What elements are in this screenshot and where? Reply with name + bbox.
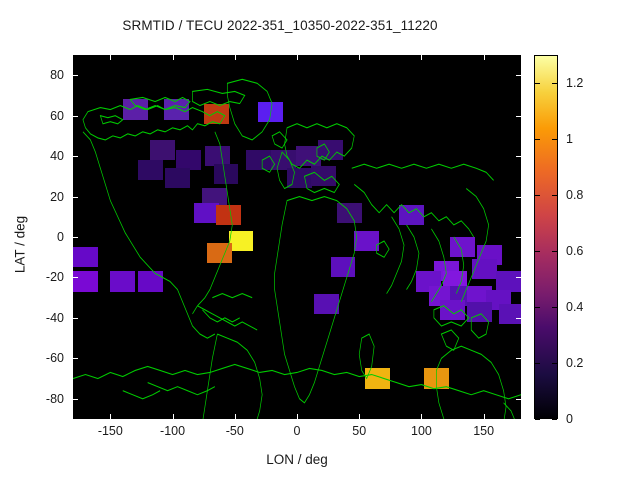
y-tick-mark [516, 399, 521, 400]
y-tick-label: -60 [18, 351, 64, 365]
x-tick-mark [297, 414, 298, 419]
colorbar-tick-label: 1.2 [566, 76, 583, 90]
y-tick-mark [516, 156, 521, 157]
x-tick-mark [235, 414, 236, 419]
colorbar-tick-mark [535, 307, 540, 308]
x-tick-label: 50 [352, 424, 366, 438]
colorbar-tick-mark [535, 195, 540, 196]
colorbar-tick-label: 0 [566, 412, 573, 426]
x-tick-mark [235, 55, 236, 60]
y-tick-mark [73, 399, 78, 400]
y-tick-mark [73, 318, 78, 319]
x-tick-label: 150 [473, 424, 494, 438]
y-tick-mark [516, 358, 521, 359]
y-tick-mark [73, 156, 78, 157]
y-tick-mark [73, 197, 78, 198]
x-tick-mark [173, 55, 174, 60]
colorbar-tick-label: 1 [566, 132, 573, 146]
map-plot-area[interactable] [73, 55, 521, 419]
colorbar-tick-mark [552, 195, 557, 196]
colorbar-tick-mark [552, 307, 557, 308]
x-tick-mark [359, 55, 360, 60]
y-tick-mark [73, 237, 78, 238]
x-tick-mark [421, 414, 422, 419]
y-tick-mark [516, 75, 521, 76]
coastline-overlay [73, 55, 521, 419]
colorbar-tick-mark [552, 363, 557, 364]
y-tick-mark [73, 358, 78, 359]
y-axis-label: LAT / deg [13, 145, 28, 345]
colorbar[interactable] [534, 55, 558, 419]
x-tick-mark [359, 414, 360, 419]
colorbar-tick-mark [535, 83, 540, 84]
y-tick-label: 80 [18, 68, 64, 82]
colorbar-tick-mark [535, 363, 540, 364]
colorbar-tick-label: 0.6 [566, 244, 583, 258]
x-tick-mark [484, 414, 485, 419]
x-tick-mark [110, 55, 111, 60]
x-tick-label: -150 [98, 424, 123, 438]
y-tick-mark [73, 277, 78, 278]
colorbar-tick-label: 0.4 [566, 300, 583, 314]
y-tick-mark [516, 116, 521, 117]
colorbar-tick-mark [535, 251, 540, 252]
x-tick-mark [297, 55, 298, 60]
x-axis-label: LON / deg [73, 452, 521, 467]
y-tick-mark [516, 277, 521, 278]
colorbar-tick-mark [552, 83, 557, 84]
y-tick-mark [516, 318, 521, 319]
colorbar-tick-mark [552, 139, 557, 140]
colorbar-gradient [534, 55, 558, 419]
colorbar-tick-mark [535, 139, 540, 140]
y-tick-label: 60 [18, 109, 64, 123]
colorbar-tick-mark [552, 419, 557, 420]
page-title: SRMTID / TECU 2022-351_10350-2022-351_11… [0, 18, 560, 33]
x-tick-mark [173, 414, 174, 419]
x-tick-label: 100 [411, 424, 432, 438]
y-tick-mark [516, 237, 521, 238]
y-tick-mark [73, 75, 78, 76]
colorbar-tick-label: 0.2 [566, 356, 583, 370]
x-tick-mark [110, 414, 111, 419]
y-tick-label: -80 [18, 392, 64, 406]
y-tick-mark [516, 197, 521, 198]
x-tick-label: -100 [160, 424, 185, 438]
x-tick-mark [484, 55, 485, 60]
colorbar-tick-mark [552, 251, 557, 252]
y-tick-mark [73, 116, 78, 117]
x-tick-label: -50 [226, 424, 244, 438]
colorbar-tick-mark [535, 419, 540, 420]
x-tick-label: 0 [294, 424, 301, 438]
figure-canvas: SRMTID / TECU 2022-351_10350-2022-351_11… [0, 0, 640, 480]
x-tick-mark [421, 55, 422, 60]
colorbar-tick-label: 0.8 [566, 188, 583, 202]
